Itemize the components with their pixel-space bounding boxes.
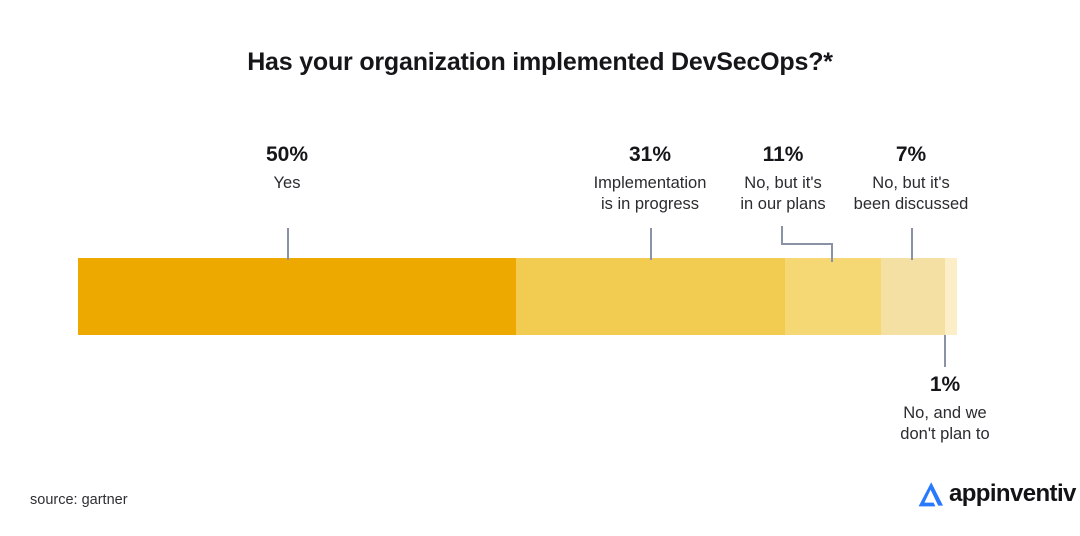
callout-label-no-plan: No, and we don't plan to xyxy=(870,403,1020,445)
brand-name: appinventiv xyxy=(949,480,1076,508)
callout-value-been-discussed: 7% xyxy=(838,142,984,169)
leader-line-in-our-plans xyxy=(778,224,840,262)
page-title: Has your organization implemented DevSec… xyxy=(0,48,1080,77)
bar-segment-yes[interactable] xyxy=(78,258,516,335)
callout-in-progress: 31% Implementation is in progress xyxy=(570,142,730,215)
leader-line-been-discussed xyxy=(911,228,913,260)
appinventiv-a-icon xyxy=(916,479,946,509)
callout-been-discussed: 7% No, but it's been discussed xyxy=(838,142,984,215)
bar-segment-no-plan[interactable] xyxy=(945,258,957,335)
callout-value-in-our-plans: 11% xyxy=(712,142,854,169)
callout-label-been-discussed: No, but it's been discussed xyxy=(838,173,984,215)
callout-label-in-progress: Implementation is in progress xyxy=(570,173,730,215)
callout-value-yes: 50% xyxy=(207,142,367,169)
callout-yes: 50% Yes xyxy=(207,142,367,194)
bar-segment-in-our-plans[interactable] xyxy=(785,258,881,335)
chart-canvas: Has your organization implemented DevSec… xyxy=(0,0,1080,536)
brand-logo[interactable]: appinventiv xyxy=(916,479,1076,509)
callout-in-our-plans: 11% No, but it's in our plans xyxy=(712,142,854,215)
bar-segment-in-progress[interactable] xyxy=(516,258,785,335)
callout-label-in-our-plans: No, but it's in our plans xyxy=(712,173,854,215)
callout-label-yes: Yes xyxy=(207,173,367,194)
callout-no-plan: 1% No, and we don't plan to xyxy=(870,372,1020,445)
callout-value-in-progress: 31% xyxy=(570,142,730,169)
leader-line-no-plan xyxy=(944,335,946,367)
bar-segment-been-discussed[interactable] xyxy=(881,258,945,335)
leader-line-yes xyxy=(287,228,289,260)
stacked-bar xyxy=(78,258,957,335)
leader-line-in-progress xyxy=(650,228,652,260)
source-note: source: gartner xyxy=(30,492,128,508)
callout-value-no-plan: 1% xyxy=(870,372,1020,399)
